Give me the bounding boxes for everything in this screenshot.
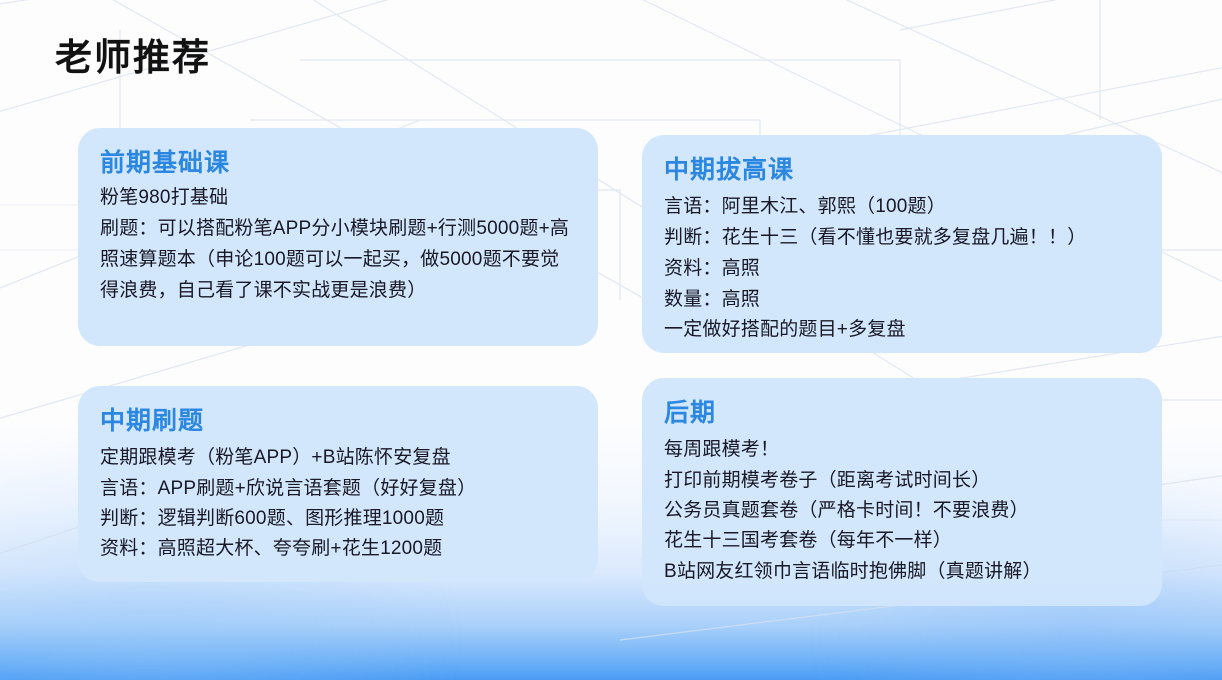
card-line: 粉笔980打基础	[100, 183, 576, 214]
cards-grid: 前期基础课 粉笔980打基础 刷题：可以搭配粉笔APP分小模块刷题+行测5000…	[78, 128, 1162, 628]
card-line: 判断：花生十三（看不懂也要就多复盘几遍！！）	[664, 223, 1140, 254]
card-title: 中期刷题	[100, 406, 576, 437]
card-line: B站网友红领巾言语临时抱佛脚（真题讲解）	[664, 557, 1140, 587]
page-title: 老师推荐	[55, 36, 211, 80]
card-line-list: 每周跟模考！ 打印前期模考卷子（距离考试时间长） 公务员真题套卷（严格卡时间！不…	[664, 435, 1140, 587]
card-line: 花生十三国考套卷（每年不一样）	[664, 526, 1140, 556]
card-zhongqi-bagaoke[interactable]: 中期拔高课 言语：阿里木江、郭熙（100题） 判断：花生十三（看不懂也要就多复盘…	[642, 135, 1162, 353]
card-line: 公务员真题套卷（严格卡时间！不要浪费）	[664, 496, 1140, 526]
card-line: 刷题：可以搭配粉笔APP分小模块刷题+行测5000题+高照速算题本（申论100题…	[100, 214, 576, 307]
card-line: 资料：高照	[664, 254, 1140, 285]
card-zhongqi-shuati[interactable]: 中期刷题 定期跟模考（粉笔APP）+B站陈怀安复盘 言语：APP刷题+欣说言语套…	[78, 386, 598, 582]
card-qianqi-jichuke[interactable]: 前期基础课 粉笔980打基础 刷题：可以搭配粉笔APP分小模块刷题+行测5000…	[78, 128, 598, 346]
card-line: 判断：逻辑判断600题、图形推理1000题	[100, 504, 576, 534]
slide-canvas: 老师推荐 前期基础课 粉笔980打基础 刷题：可以搭配粉笔APP分小模块刷题+行…	[0, 0, 1222, 680]
card-line: 数量：高照	[664, 285, 1140, 316]
card-title: 前期基础课	[100, 148, 576, 179]
card-line: 一定做好搭配的题目+多复盘	[664, 315, 1140, 346]
card-title: 后期	[664, 398, 1140, 429]
card-line: 言语：APP刷题+欣说言语套题（好好复盘）	[100, 474, 576, 504]
card-houqi[interactable]: 后期 每周跟模考！ 打印前期模考卷子（距离考试时间长） 公务员真题套卷（严格卡时…	[642, 378, 1162, 606]
card-line: 资料：高照超大杯、夸夸刷+花生1200题	[100, 534, 576, 564]
card-line: 每周跟模考！	[664, 435, 1140, 465]
card-title: 中期拔高课	[664, 155, 1140, 186]
card-line: 打印前期模考卷子（距离考试时间长）	[664, 466, 1140, 496]
card-line-list: 粉笔980打基础 刷题：可以搭配粉笔APP分小模块刷题+行测5000题+高照速算…	[100, 183, 576, 307]
card-line-list: 言语：阿里木江、郭熙（100题） 判断：花生十三（看不懂也要就多复盘几遍！！） …	[664, 192, 1140, 346]
card-line: 言语：阿里木江、郭熙（100题）	[664, 192, 1140, 223]
card-line-list: 定期跟模考（粉笔APP）+B站陈怀安复盘 言语：APP刷题+欣说言语套题（好好复…	[100, 443, 576, 565]
card-line: 定期跟模考（粉笔APP）+B站陈怀安复盘	[100, 443, 576, 473]
